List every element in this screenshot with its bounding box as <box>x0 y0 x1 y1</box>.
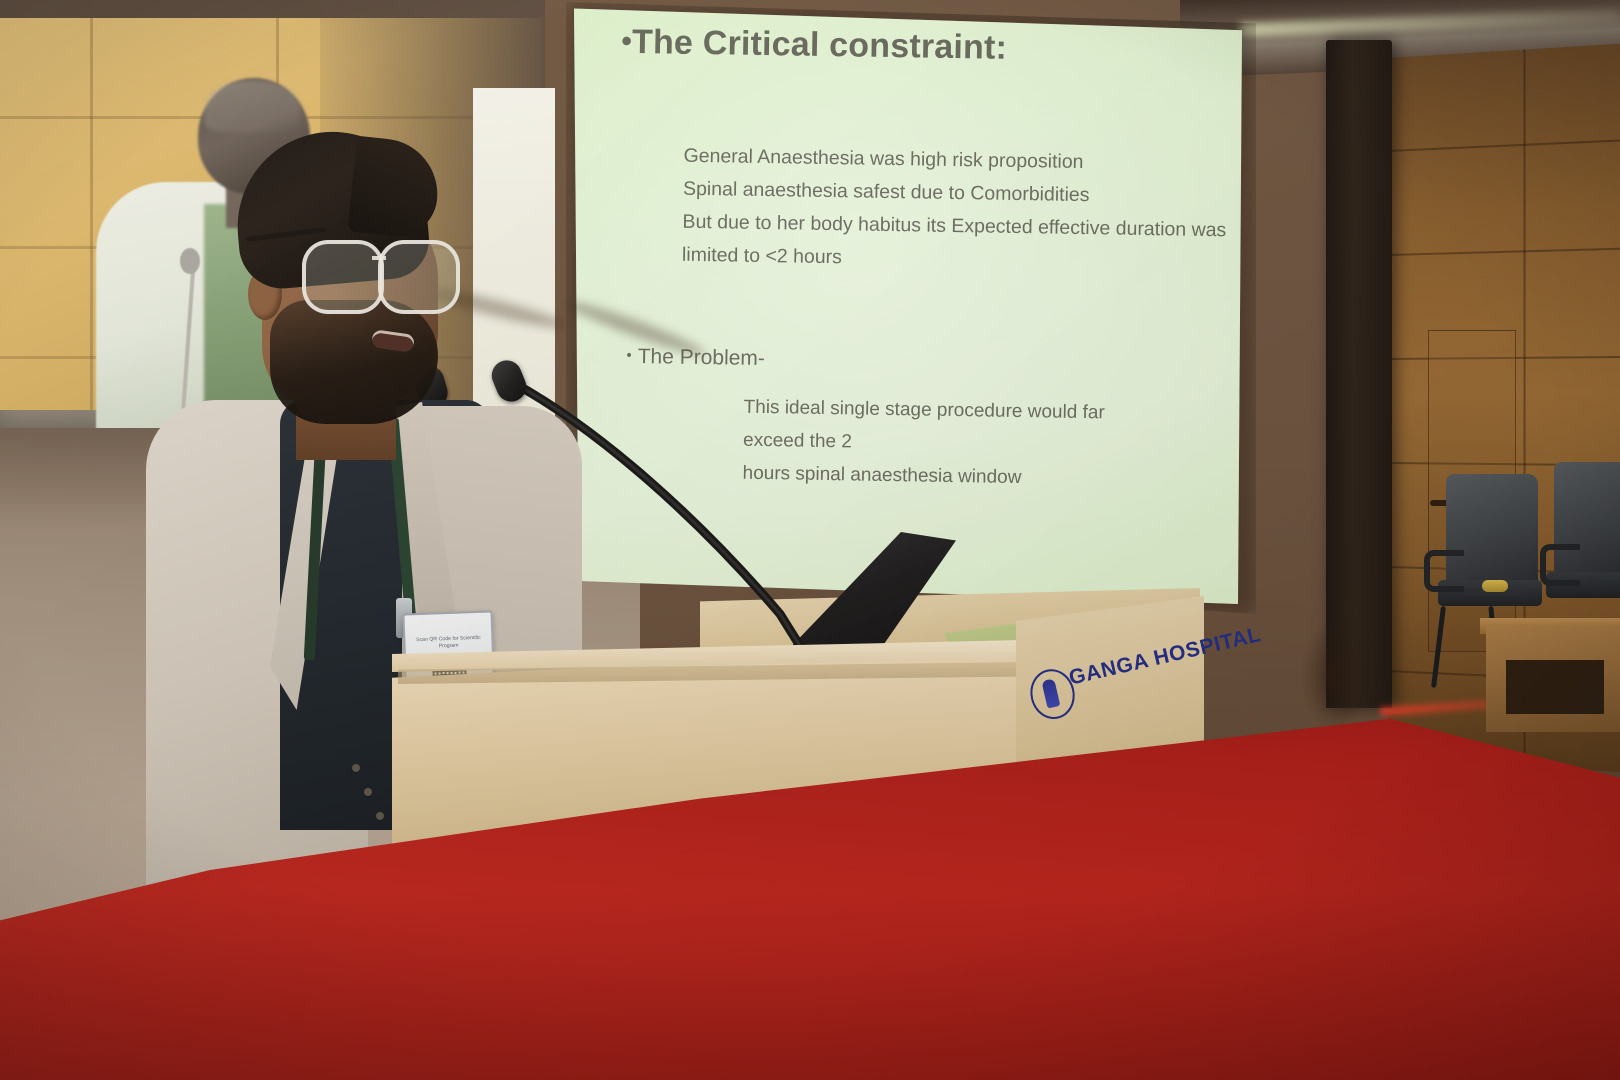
eyeglasses-bridge <box>372 256 386 260</box>
slide-body: General Anaesthesia was high risk propos… <box>682 140 1204 280</box>
column-shadow <box>1300 620 1370 730</box>
beard <box>270 300 438 424</box>
title-bullet-icon: • <box>621 25 632 58</box>
conference-presentation-scene: •The Critical constraint: General Anaest… <box>0 0 1620 1080</box>
problem-line-1: This ideal single stage procedure would … <box>743 391 1164 464</box>
eyeglasses-lens-left <box>302 240 384 314</box>
slide-title-text: The Critical constraint: <box>632 23 1008 67</box>
slide-problem-body: This ideal single stage procedure would … <box>742 391 1164 497</box>
eyeglasses-lens-right <box>378 240 460 314</box>
slide-title: •The Critical constraint: <box>621 23 1007 68</box>
pa-speaker-column <box>1326 40 1392 708</box>
tabletop-object <box>1482 580 1508 592</box>
badge-caption: Scan QR Code for Scientific Program <box>411 635 485 652</box>
problem-line-2: hours spinal anaesthesia window <box>742 457 1162 497</box>
